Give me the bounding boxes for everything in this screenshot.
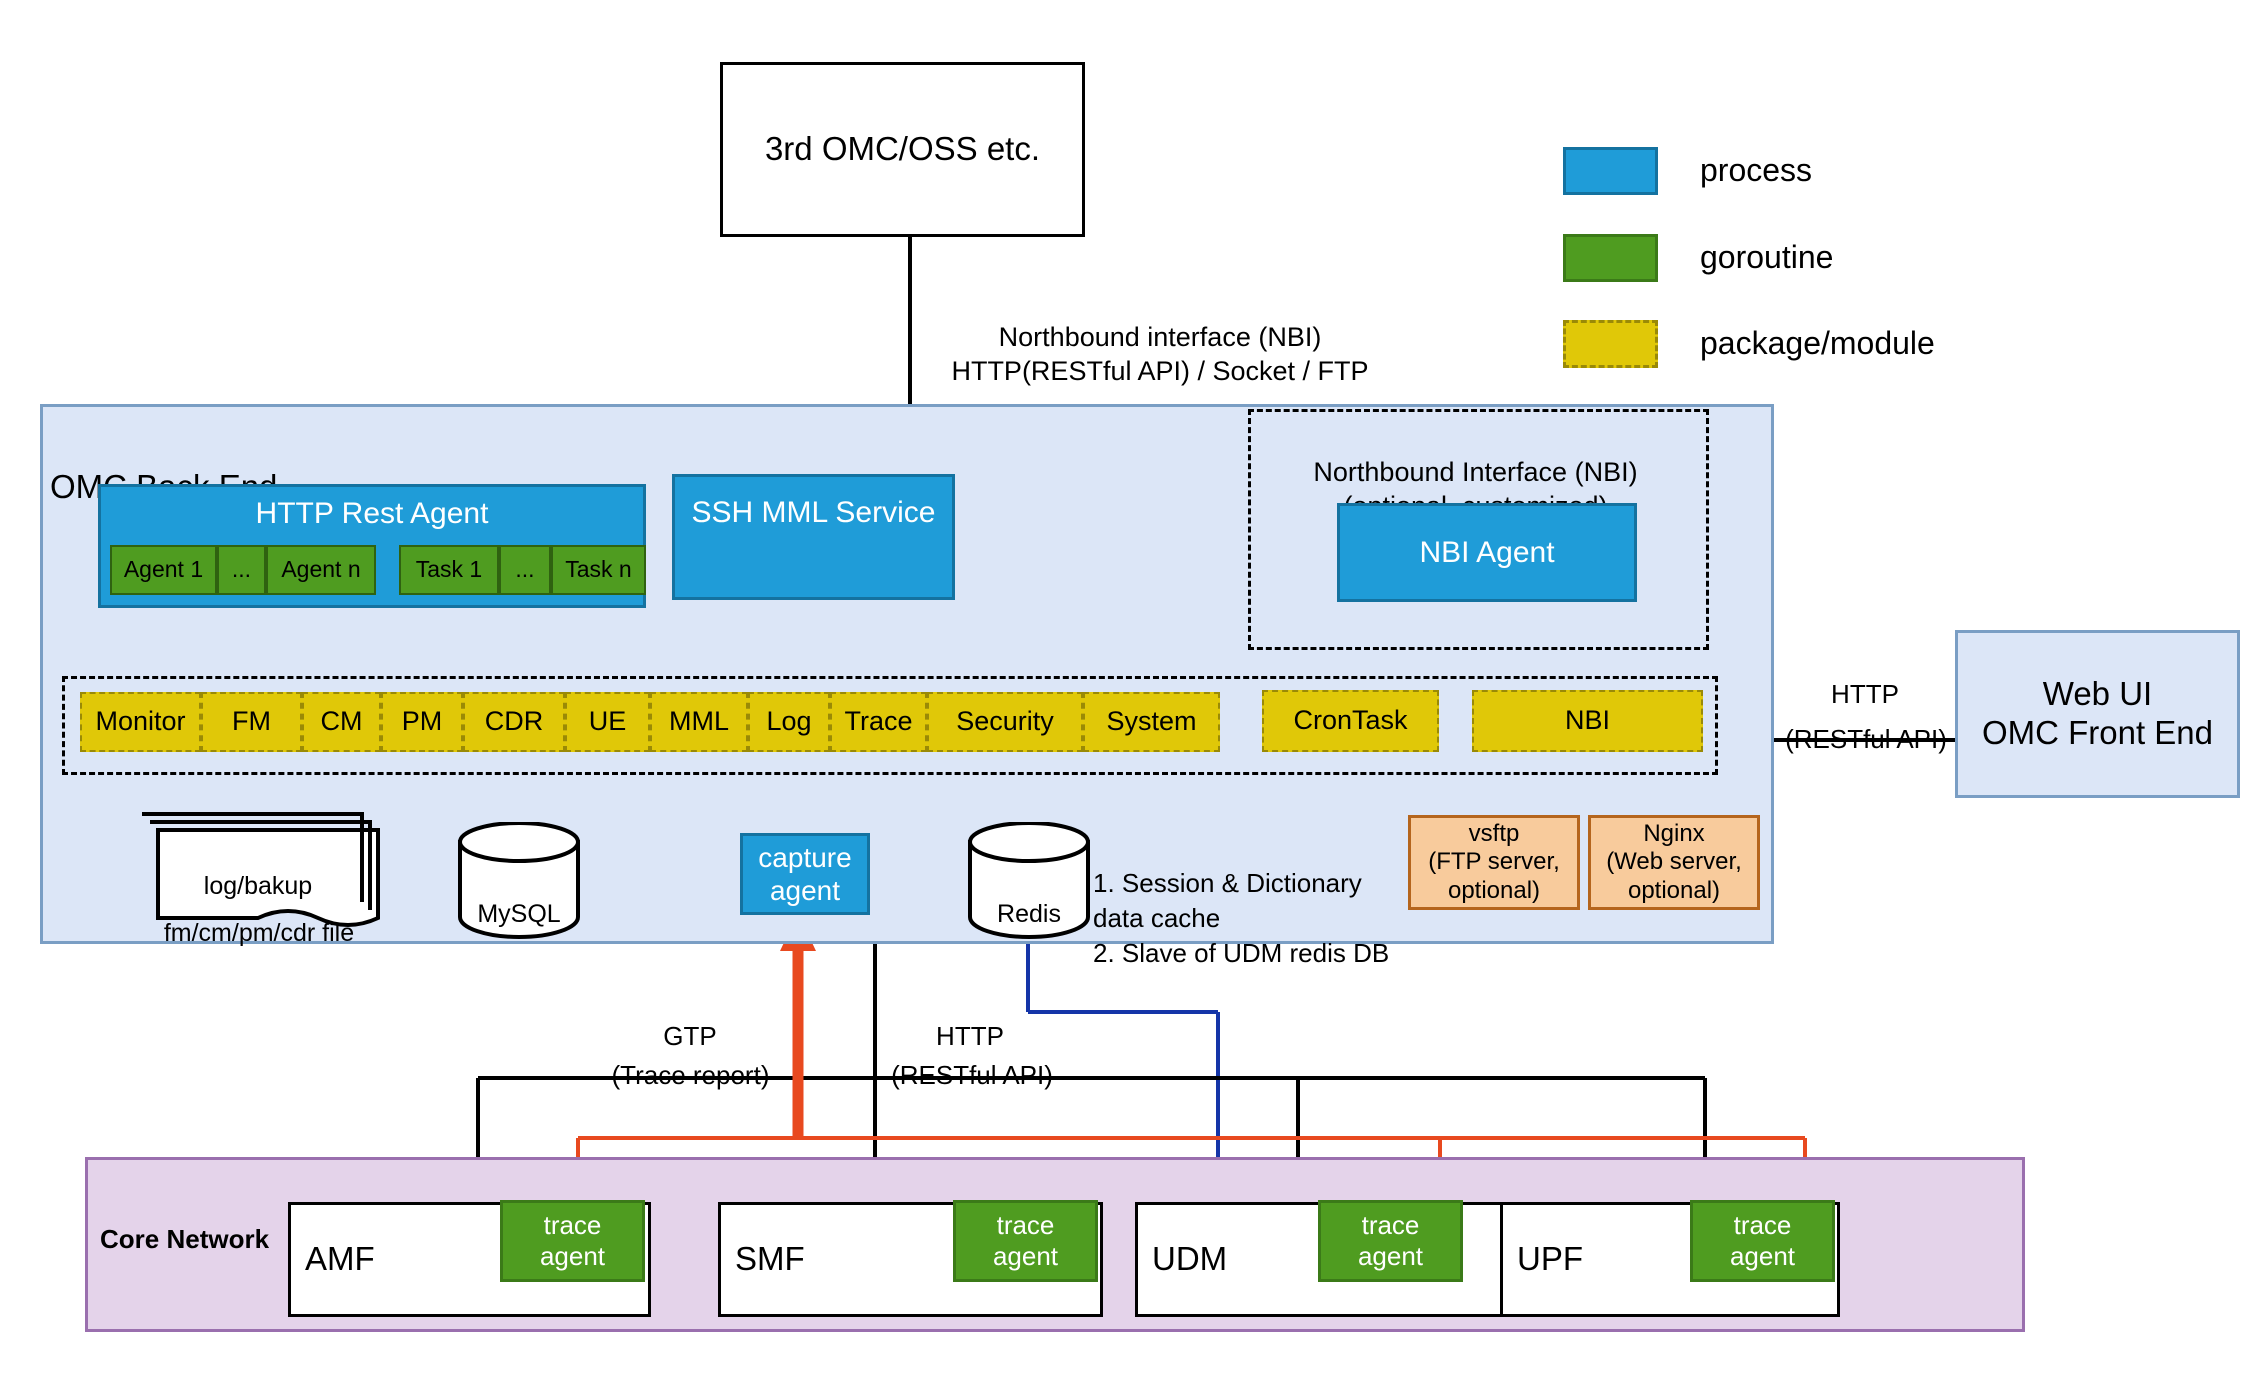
module-cdr[interactable]: CDR: [463, 692, 565, 752]
http-rest-agent-title: HTTP Rest Agent: [256, 496, 489, 531]
module-mml[interactable]: MML: [650, 692, 748, 752]
module-monitor[interactable]: Monitor: [80, 692, 201, 752]
module-crontask[interactable]: CronTask: [1262, 690, 1439, 752]
module-system[interactable]: System: [1083, 692, 1220, 752]
gtp-link-label-line2: (Trace report): [588, 1026, 793, 1093]
nbi-agent-box: NBI Agent: [1337, 503, 1637, 602]
module-trace[interactable]: Trace: [830, 692, 927, 752]
module-ue[interactable]: UE: [565, 692, 650, 752]
goroutine-task-n: Task n: [551, 545, 646, 595]
module-cm[interactable]: CM: [302, 692, 381, 752]
log-backup-label-line2: fm/cm/pm/cdr file: [130, 885, 388, 949]
vsftp-server-box: vsftp (FTP server, optional): [1408, 815, 1580, 910]
ssh-mml-service-title: SSH MML Service: [692, 495, 936, 530]
trace-agent-upf: trace agent: [1690, 1200, 1835, 1282]
frontend-line2: OMC Front End: [1982, 714, 2213, 753]
web-ui-frontend-box: Web UI OMC Front End: [1955, 630, 2240, 798]
module-pm[interactable]: PM: [381, 692, 463, 752]
goroutine-agent-ellipsis: ...: [217, 545, 266, 595]
core-node-upf-label: UPF: [1517, 1240, 1583, 1279]
frontend-line1: Web UI: [2043, 675, 2152, 714]
diagram-canvas: 3rd OMC/OSS etc. Northbound interface (N…: [0, 0, 2250, 1395]
trace-agent-udm: trace agent: [1318, 1200, 1463, 1282]
trace-agent-amf: trace agent: [500, 1200, 645, 1282]
legend-swatch-package: [1563, 320, 1658, 368]
module-log[interactable]: Log: [748, 692, 830, 752]
legend-label-goroutine: goroutine: [1700, 239, 1833, 276]
goroutine-agent-1: Agent 1: [110, 545, 217, 595]
legend-label-process: process: [1700, 152, 1812, 189]
http-link-label-line2: (RESTful API): [862, 1026, 1082, 1093]
module-nbi[interactable]: NBI: [1472, 690, 1703, 752]
ssh-mml-service-box: SSH MML Service: [672, 474, 955, 600]
nginx-server-box: Nginx (Web server, optional): [1588, 815, 1760, 910]
redis-note-line3: 2. Slave of UDM redis DB: [1093, 904, 1493, 971]
core-node-amf-label: AMF: [305, 1240, 375, 1279]
module-security[interactable]: Security: [927, 692, 1083, 752]
goroutine-task-1: Task 1: [399, 545, 499, 595]
core-node-udm-label: UDM: [1152, 1240, 1227, 1279]
mysql-label: MySQL: [455, 866, 583, 930]
nbi-link-label: Northbound interface (NBI) HTTP(RESTful …: [880, 285, 1440, 389]
goroutine-agent-n: Agent n: [266, 545, 376, 595]
legend-label-package: package/module: [1700, 325, 1935, 362]
frontend-link-label-line2: (RESTful API): [1768, 690, 1964, 757]
legend-swatch-goroutine: [1563, 234, 1658, 282]
third-party-omc-oss-label: 3rd OMC/OSS etc.: [765, 130, 1040, 169]
third-party-omc-oss-box: 3rd OMC/OSS etc.: [720, 62, 1085, 237]
legend-swatch-process: [1563, 147, 1658, 195]
redis-label: Redis: [965, 866, 1093, 930]
trace-agent-smf: trace agent: [953, 1200, 1098, 1282]
capture-agent-box: capture agent: [740, 833, 870, 915]
module-fm[interactable]: FM: [201, 692, 302, 752]
goroutine-task-ellipsis: ...: [499, 545, 551, 595]
core-node-smf-label: SMF: [735, 1240, 805, 1279]
